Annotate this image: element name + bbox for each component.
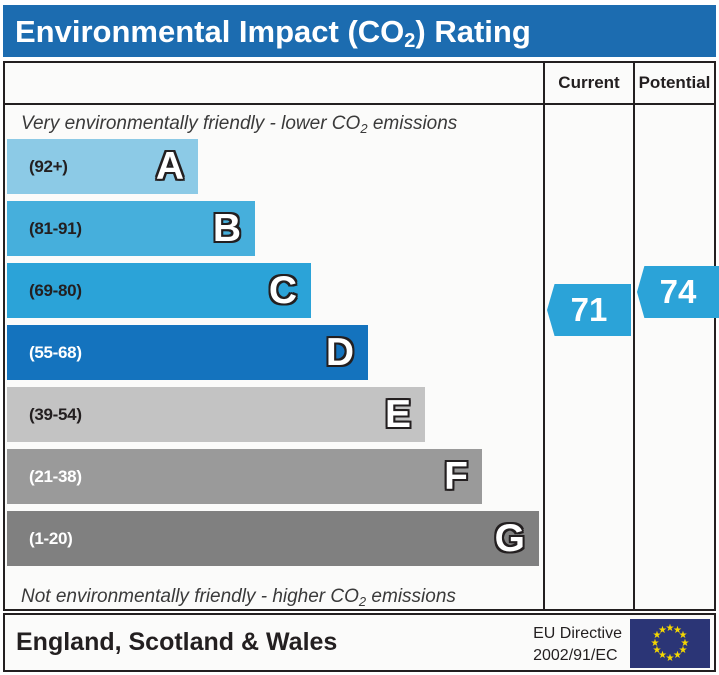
rating-band-a: (92+)A [7, 139, 198, 194]
column-header-current: Current [545, 63, 633, 103]
band-letter-a: A [156, 147, 184, 186]
caption-top-suffix: emissions [368, 113, 458, 134]
footer-directive: EU Directive 2002/91/EC [533, 623, 622, 666]
band-range-g: (1-20) [29, 529, 73, 549]
rating-band-d: (55-68)D [7, 325, 368, 380]
footer-region-label: England, Scotland & Wales [16, 628, 337, 657]
column-separator-current [543, 63, 545, 609]
rating-band-f: (21-38)F [7, 449, 482, 504]
footer-directive-line2: 2002/91/EC [533, 645, 622, 667]
caption-bottom-prefix: Not environmentally friendly - higher CO [21, 586, 359, 607]
rating-band-g: (1-20)G [7, 511, 539, 566]
chart-footer: England, Scotland & Wales EU Directive 2… [3, 613, 716, 672]
caption-bottom-subscript: 2 [359, 594, 366, 609]
band-range-f: (21-38) [29, 467, 82, 487]
band-range-b: (81-91) [29, 219, 82, 239]
band-range-e: (39-54) [29, 405, 82, 425]
caption-top: Very environmentally friendly - lower CO… [21, 113, 457, 135]
caption-bottom-suffix: emissions [366, 586, 456, 607]
ratings-table: Current Potential Very environmentally f… [3, 61, 716, 611]
band-range-c: (69-80) [29, 281, 82, 301]
band-letter-f: F [444, 457, 468, 496]
band-range-d: (55-68) [29, 343, 82, 363]
band-letter-d: D [326, 333, 354, 372]
caption-top-prefix: Very environmentally friendly - lower CO [21, 113, 360, 134]
potential-rating-arrow: 74 [637, 266, 719, 318]
column-header-potential: Potential [635, 63, 714, 103]
rating-band-e: (39-54)E [7, 387, 425, 442]
eu-flag-icon: ★★★★★★★★★★★★ [630, 619, 710, 668]
rating-band-b: (81-91)B [7, 201, 255, 256]
epc-environmental-impact-chart: Environmental Impact (CO2) Rating Curren… [0, 0, 719, 675]
current-rating-arrow: 71 [547, 284, 631, 336]
rating-bands: (92+)A(81-91)B(69-80)C(55-68)D(39-54)E(2… [7, 139, 543, 579]
band-letter-b: B [213, 209, 241, 248]
page-title-subscript: 2 [404, 30, 415, 52]
caption-top-subscript: 2 [360, 121, 367, 136]
chart-title-bar: Environmental Impact (CO2) Rating [3, 5, 716, 57]
band-letter-c: C [269, 271, 297, 310]
caption-bottom: Not environmentally friendly - higher CO… [21, 586, 456, 608]
page-title-suffix: ) Rating [415, 14, 530, 49]
page-title-prefix: Environmental Impact (CO [15, 14, 404, 49]
eu-flag-star: ★ [658, 626, 667, 636]
rating-band-c: (69-80)C [7, 263, 311, 318]
page-title: Environmental Impact (CO2) Rating [15, 16, 531, 47]
footer-directive-line1: EU Directive [533, 623, 622, 645]
table-header-row: Current Potential [5, 63, 714, 105]
band-letter-e: E [385, 395, 411, 434]
band-range-a: (92+) [29, 157, 68, 177]
column-separator-potential [633, 63, 635, 609]
band-letter-g: G [495, 519, 525, 558]
